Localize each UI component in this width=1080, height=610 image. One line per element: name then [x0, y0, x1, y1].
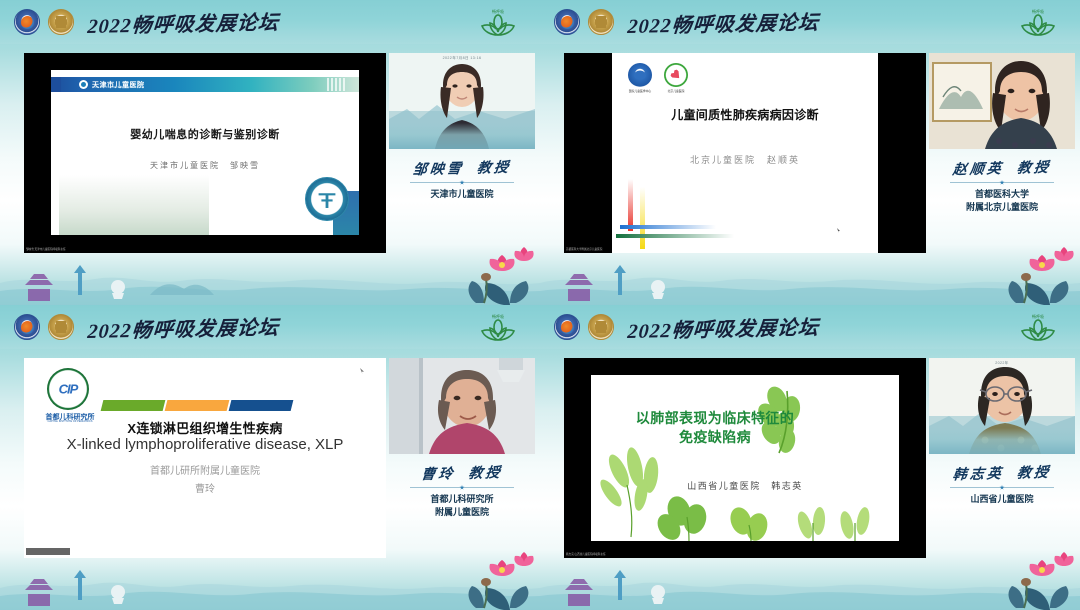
broadcast-panel-2[interactable]: 2022畅呼吸发展论坛 畅呼吸 国家儿童医学中心	[540, 0, 1080, 305]
slide-video-4[interactable]: 以肺部表现为临床特征的 免疫缺陷病 山西省儿童医院 韩志英 韩志英 山西省儿童医…	[564, 358, 926, 558]
green-leaves-illustration	[591, 375, 899, 541]
slide-logos-2: 国家儿童医学中心 北京儿童医院	[628, 63, 688, 87]
slide-subtitle-2: 北京儿童医院 赵顺英	[612, 153, 878, 166]
video-date-1: 2022年7月8日 13:16	[389, 56, 535, 61]
speaker-org-3: 首都儿科研究所 附属儿童医院	[389, 493, 535, 519]
hospital-seal-icon	[305, 177, 349, 221]
speaker-name-4: 韩志英 教授	[928, 461, 1077, 485]
mouse-cursor-icon	[837, 228, 840, 233]
green-heart-emblem-icon: 北京儿童医院	[664, 63, 688, 87]
header-logos	[14, 9, 74, 35]
speaker-org-1: 天津市儿童医院	[389, 188, 535, 201]
slide-subtitle-1: 天津市儿童医院 邹映雪	[51, 160, 359, 171]
speaker-org-2: 首都医科大学 附属北京儿童医院	[929, 188, 1075, 214]
svg-text:畅呼吸: 畅呼吸	[1032, 313, 1044, 319]
svg-text:畅呼吸: 畅呼吸	[492, 313, 504, 319]
slide-video-3[interactable]: 首都儿科研究所 CAPITAL INSTITUTE OF PEDIATRICS …	[24, 358, 386, 558]
slide-title-en-3: X-linked lymphoproliferative disease, XL…	[24, 436, 386, 453]
gold-emblem-icon	[588, 314, 614, 340]
speaker-name-2: 赵顺英 教授	[928, 156, 1077, 180]
cip-logo-icon: 首都儿科研究所 CAPITAL INSTITUTE OF PEDIATRICS	[38, 368, 98, 412]
slide-content-1: 天津市儿童医院 TIANJIN CHILDREN'S HOSPITAL 婴幼儿喘…	[51, 70, 359, 235]
speaker-video-1[interactable]: 2022年7月8日 13:16	[389, 53, 535, 149]
event-title: 2022畅呼吸发展论坛	[627, 311, 821, 344]
un-blue-emblem-icon: 国家儿童医学中心	[628, 63, 652, 87]
slide-tag-4: 韩志英 山西省儿童医院呼吸科主任	[566, 552, 606, 556]
slide-tag-1: 邹映雪 天津市儿童医院呼吸科主任	[26, 247, 66, 251]
slide-title-4: 以肺部表现为临床特征的 免疫缺陷病	[615, 409, 815, 447]
event-title: 2022畅呼吸发展论坛	[87, 311, 281, 344]
speaker-org-4: 山西省儿童医院	[929, 493, 1075, 506]
lotus-decoration	[446, 245, 536, 305]
slide-video-1[interactable]: 天津市儿童医院 TIANJIN CHILDREN'S HOSPITAL 婴幼儿喘…	[24, 53, 386, 253]
speaker-card-2[interactable]: 赵顺英 教授 首都医科大学 附属北京儿童医院	[929, 53, 1075, 253]
lotus-decoration	[986, 245, 1076, 305]
slide-video-2[interactable]: 国家儿童医学中心 北京儿童医院 儿童间质性肺疾病病因诊断 北京儿童医院 赵顺英	[564, 53, 926, 253]
panel-header-2: 2022畅呼吸发展论坛 畅呼吸	[540, 0, 1080, 44]
speaker-video-2[interactable]	[929, 53, 1075, 149]
green-lotus-icon: 畅呼吸	[474, 5, 522, 39]
blue-emblem-icon	[14, 314, 40, 340]
panel-header-1: 2022畅呼吸发展论坛 畅呼吸	[0, 0, 540, 44]
svg-text:畅呼吸: 畅呼吸	[492, 8, 504, 14]
svg-text:畅呼吸: 畅呼吸	[1032, 8, 1044, 14]
panel-header-4: 2022畅呼吸发展论坛 畅呼吸	[540, 305, 1080, 349]
header-logos	[554, 9, 614, 35]
lotus-decoration	[986, 550, 1076, 610]
speaker-divider	[410, 182, 514, 183]
blue-emblem-icon	[14, 9, 40, 35]
broadcast-panel-1[interactable]: 2022畅呼吸发展论坛 畅呼吸 天津市儿童医院 TIANJIN CHIL	[0, 0, 540, 305]
gold-emblem-icon	[48, 314, 74, 340]
panel-header-3: 2022畅呼吸发展论坛 畅呼吸	[0, 305, 540, 349]
bar-green	[101, 400, 166, 411]
speaker-card-1[interactable]: 2022年7月8日 13:16 邹映雪 教授 天津市儿童医院	[389, 53, 535, 253]
lotus-decoration	[446, 550, 536, 610]
slide-title-cn-3: X连锁淋巴组织增生性疾病	[24, 418, 386, 437]
slide-tag-3	[26, 548, 70, 555]
speaker-card-3[interactable]: 曹玲 教授 首都儿科研究所 附属儿童医院	[389, 358, 535, 558]
broadcast-panel-3[interactable]: 2022畅呼吸发展论坛 畅呼吸 首都儿科研究所 CAPITAL INSTITUT…	[0, 305, 540, 610]
gold-emblem-icon	[588, 9, 614, 35]
speaker-divider	[950, 182, 1054, 183]
event-title: 2022畅呼吸发展论坛	[87, 6, 281, 39]
blue-emblem-icon	[554, 9, 580, 35]
banner-bars-icon	[327, 78, 345, 91]
speaker-card-4[interactable]: 2022年 韩志英 教授 山西省儿童医院	[929, 358, 1075, 558]
slide-banner: 天津市儿童医院 TIANJIN CHILDREN'S HOSPITAL	[51, 77, 359, 92]
speaker-name-3: 曹玲 教授	[388, 461, 537, 485]
green-lotus-icon: 畅呼吸	[474, 310, 522, 344]
video-grid: 2022畅呼吸发展论坛 畅呼吸 天津市儿童医院 TIANJIN CHIL	[0, 0, 1080, 610]
hospital-mark-icon	[79, 80, 88, 89]
event-title: 2022畅呼吸发展论坛	[627, 6, 821, 39]
slide-tag-2: 首都医科大学附属北京儿童医院	[566, 247, 602, 251]
gold-emblem-icon	[48, 9, 74, 35]
slide-presenter-3: 曹玲	[24, 480, 386, 495]
speaker-video-4[interactable]: 2022年	[929, 358, 1075, 454]
green-lotus-icon: 畅呼吸	[1014, 5, 1062, 39]
slide-org-3: 首都儿研所附属儿童医院	[24, 462, 386, 477]
slide-content-4: 以肺部表现为临床特征的 免疫缺陷病 山西省儿童医院 韩志英	[591, 375, 899, 541]
broadcast-panel-4[interactable]: 2022畅呼吸发展论坛 畅呼吸	[540, 305, 1080, 610]
green-lotus-icon: 畅呼吸	[1014, 310, 1062, 344]
blue-emblem-icon	[554, 314, 580, 340]
slide-color-bars	[102, 400, 292, 411]
slide-title-1: 婴幼儿喘息的诊断与鉴别诊断	[51, 126, 359, 142]
slide-subtitle-4: 山西省儿童医院 韩志英	[591, 479, 899, 492]
video-date-4: 2022年	[929, 361, 1075, 366]
banner-org-en: TIANJIN CHILDREN'S HOSPITAL	[92, 86, 142, 89]
speaker-divider	[410, 487, 514, 488]
bar-orange	[165, 400, 230, 411]
speaker-divider	[950, 487, 1054, 488]
slide-title-2: 儿童间质性肺疾病病因诊断	[612, 106, 878, 123]
slide-color-accent-icon	[616, 179, 816, 249]
speaker-name-1: 邹映雪 教授	[388, 156, 537, 180]
slide-background-photo	[59, 175, 209, 235]
slide-content-2: 国家儿童医学中心 北京儿童医院 儿童间质性肺疾病病因诊断 北京儿童医院 赵顺英	[612, 53, 878, 253]
mouse-cursor-icon	[360, 368, 364, 374]
header-logos	[554, 314, 614, 340]
header-logos	[14, 314, 74, 340]
bar-blue	[229, 400, 294, 411]
speaker-video-3[interactable]	[389, 358, 535, 454]
